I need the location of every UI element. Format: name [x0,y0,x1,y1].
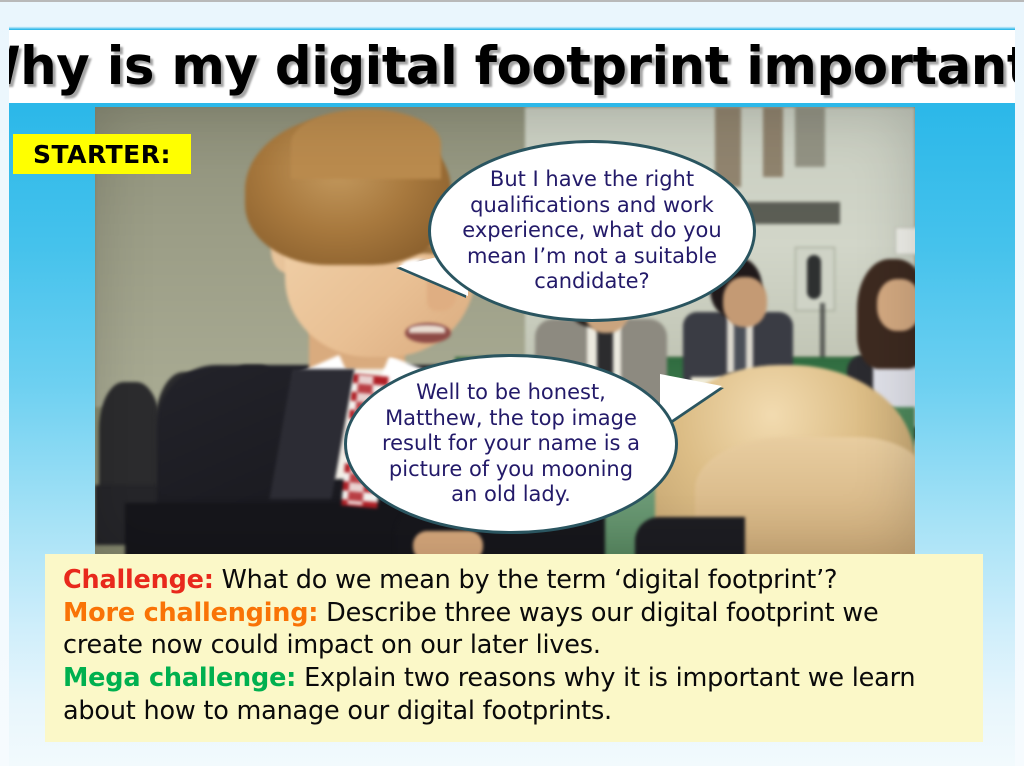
more-challenging-label: More challenging: [63,598,318,628]
challenge-line: Challenge: What do we mean by the term ‘… [63,564,965,597]
page-title: Why is my digital footprint important? [0,36,1024,97]
challenge-line: Mega challenge: Explain two reasons why … [63,662,965,727]
challenge-line: More challenging: Describe three ways ou… [63,597,965,662]
speech-bubble-1: But I have the right qualifications and … [428,140,756,322]
speech-bubble-2-text: Well to be honest, Matthew, the top imag… [347,380,675,508]
starter-label-box: STARTER: [13,134,191,174]
speech-bubble-2: Well to be honest, Matthew, the top imag… [344,354,678,534]
starter-label: STARTER: [33,140,171,169]
title-bar: Why is my digital footprint important? [8,30,1016,103]
challenge-label: Challenge: [63,565,214,595]
slide-root: Why is my digital footprint important? [0,0,1024,766]
slide-right-edge [1015,2,1024,766]
challenge-box: Challenge: What do we mean by the term ‘… [45,554,983,742]
challenge-body: What do we mean by the term ‘digital foo… [214,565,838,595]
speech-bubble-1-text: But I have the right qualifications and … [431,167,753,295]
slide-left-edge [0,2,9,766]
mega-challenge-label: Mega challenge: [63,663,296,693]
